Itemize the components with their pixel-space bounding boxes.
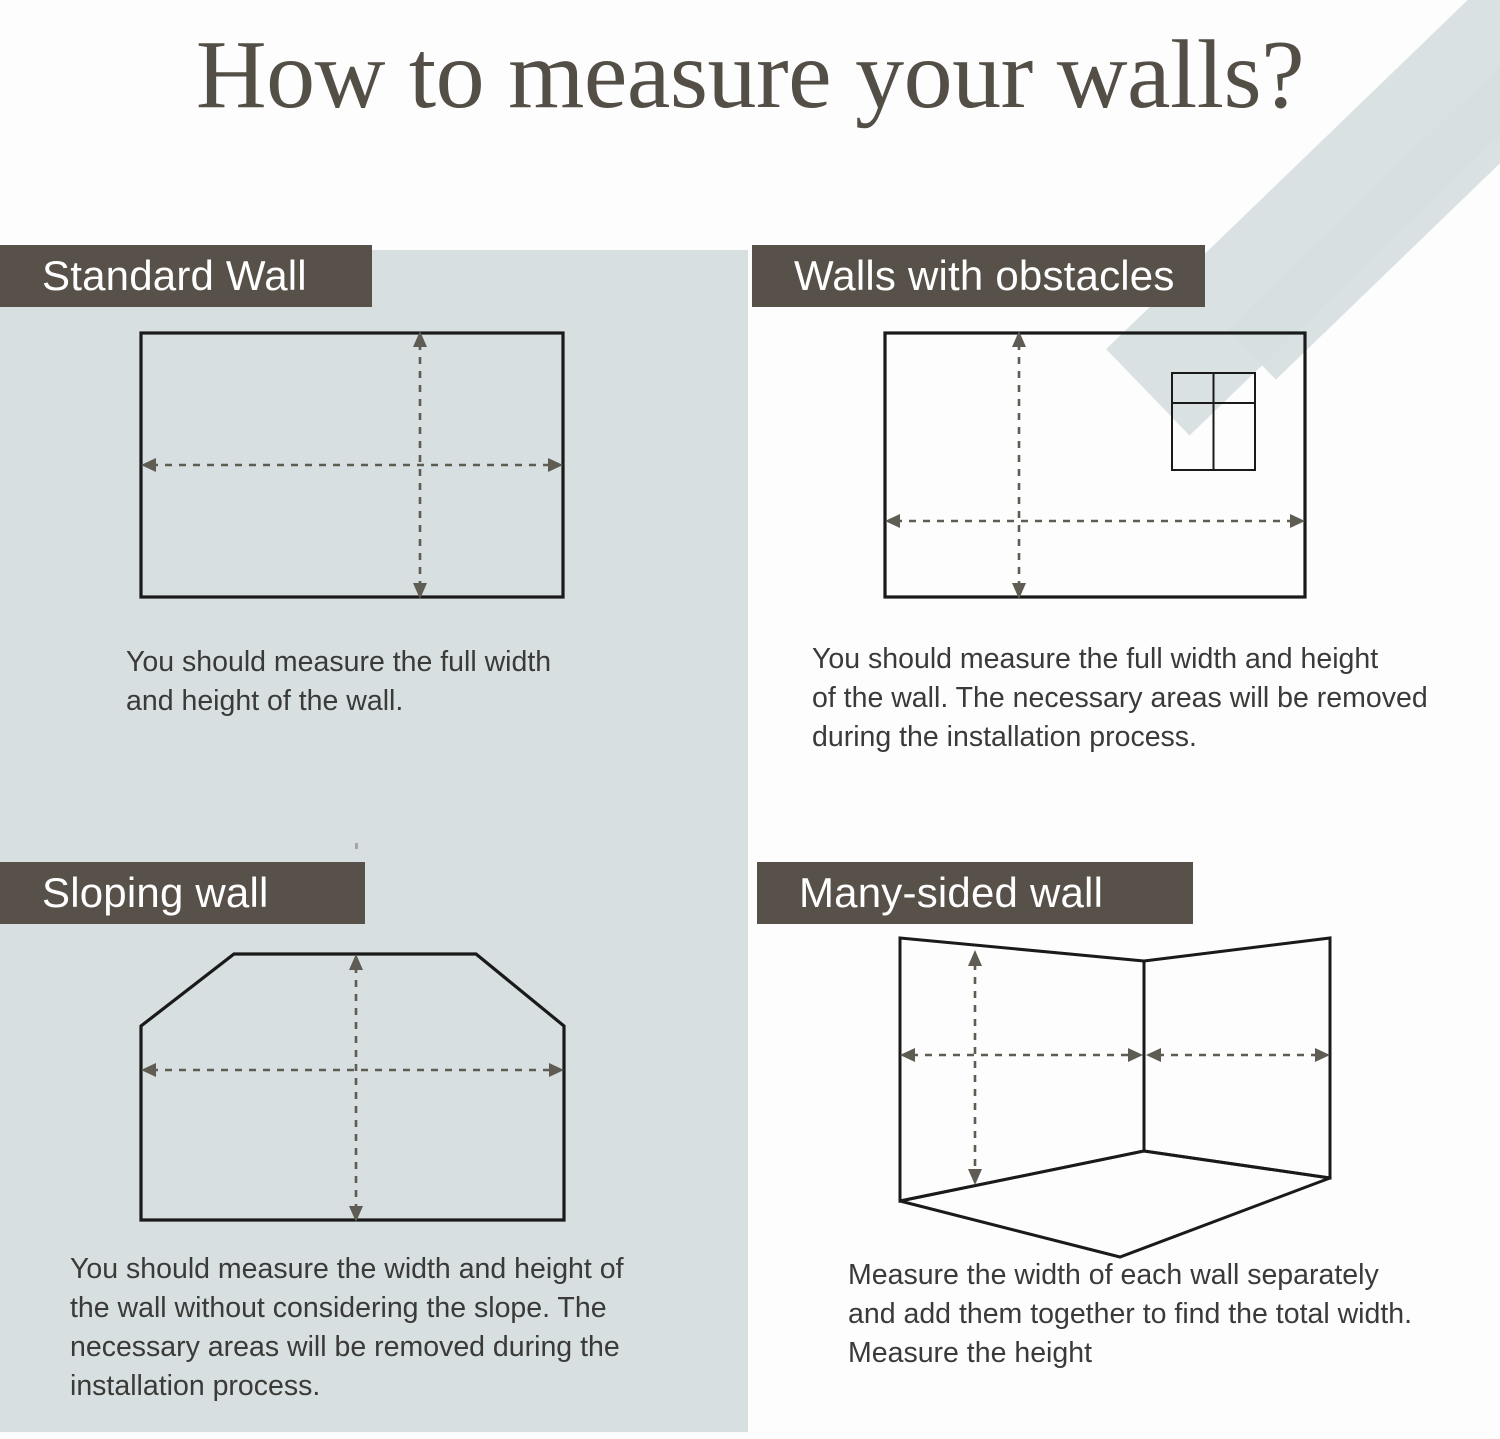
caption-walls-with-obstacles: You should measure the full width and he…	[812, 640, 1492, 757]
diagram-sloping-wall	[120, 930, 600, 1260]
section-heading-sloping-wall: Sloping wall	[0, 862, 365, 924]
corner-room-outline	[900, 938, 1330, 1257]
height-dimension-arrow	[1012, 331, 1026, 599]
diagram-many-sided-wall	[870, 920, 1360, 1265]
right-wall-width-arrow	[1146, 1048, 1330, 1062]
section-heading-many-sided-wall: Many-sided wall	[757, 862, 1193, 924]
section-heading-standard-wall: Standard Wall	[0, 245, 372, 307]
stray-mark	[355, 843, 358, 849]
window-icon	[1172, 373, 1255, 470]
wall-outline	[141, 954, 564, 1220]
caption-many-sided-wall: Measure the width of each wall separatel…	[848, 1256, 1468, 1373]
caption-standard-wall: You should measure the full width and he…	[126, 643, 686, 721]
height-dimension-arrow	[349, 954, 363, 1222]
width-dimension-arrow	[885, 514, 1305, 528]
left-wall-width-arrow	[900, 1048, 1143, 1062]
page-title: How to measure your walls?	[0, 24, 1500, 127]
infographic-page: How to measure your walls? Standard Wall…	[0, 0, 1500, 1439]
diagram-standard-wall	[120, 315, 590, 615]
height-dimension-arrow	[968, 950, 982, 1185]
diagram-walls-with-obstacles	[860, 315, 1330, 615]
section-heading-walls-with-obstacles: Walls with obstacles	[752, 245, 1205, 307]
width-dimension-arrow	[141, 458, 563, 472]
width-dimension-arrow	[141, 1063, 564, 1077]
caption-sloping-wall: You should measure the width and height …	[70, 1250, 690, 1406]
